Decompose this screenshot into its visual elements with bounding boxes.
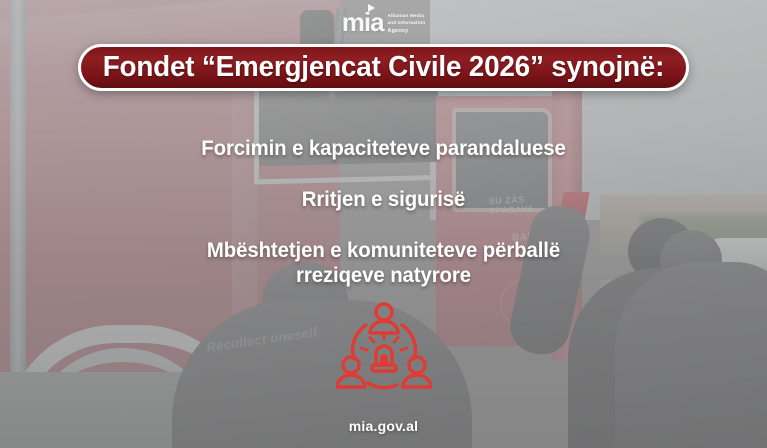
title-banner: Fondet “Emergjencat Civile 2026” synojnë… — [78, 44, 689, 91]
bullet-list: Forcimin e kapaciteteve parandaluese Rri… — [0, 136, 767, 289]
mia-logo-subtitle-line3: Agency — [388, 28, 409, 34]
mia-logo-subtitle: Albanian Media and Information Agency — [388, 13, 426, 35]
mia-logo-wordmark: mia — [342, 9, 384, 35]
bullet-item-3-line1: Mbështetjen e komuniteteve përballë — [12, 238, 756, 264]
poster-canvas: SU ZAS SPASAVA BAR 123 Recollect oneself… — [0, 0, 767, 448]
mia-logo-subtitle-line1: Albanian Media — [388, 13, 426, 20]
mia-logo: mia Albanian Media and Information Agenc… — [0, 9, 767, 35]
page-title: Fondet “Emergjencat Civile 2026” synojnë… — [103, 51, 664, 84]
footer-website-url[interactable]: mia.gov.al — [0, 418, 767, 434]
mia-logo-text: mia — [342, 7, 384, 37]
bullet-item-2: Rritjen e sigurisë — [12, 187, 756, 214]
bullet-item-3-line2: rreziqeve natyrore — [12, 263, 756, 289]
bullet-item-1: Forcimin e kapaciteteve parandaluese — [12, 136, 756, 163]
bullet-item-3: Mbështetjen e komuniteteve përballë rrez… — [12, 238, 756, 289]
mia-logo-subtitle-line2: and Information — [388, 20, 426, 27]
community-emergency-beacon-icon — [336, 301, 432, 399]
poster-content: mia Albanian Media and Information Agenc… — [0, 0, 767, 448]
play-triangle-icon — [368, 4, 375, 12]
